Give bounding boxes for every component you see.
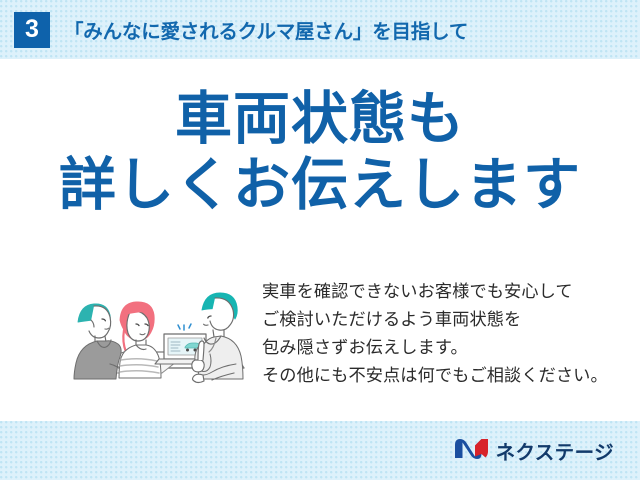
footer: ネクステージ bbox=[0, 421, 640, 480]
body-copy-line-3: 包み隠さずお伝えします。 bbox=[262, 334, 630, 362]
header-title: 「みんなに愛されるクルマ屋さん」を目指して bbox=[64, 15, 468, 44]
brand-wordmark: ネクステージ bbox=[496, 436, 614, 465]
header: 3 「みんなに愛されるクルマ屋さん」を目指して bbox=[0, 0, 640, 59]
consultation-illustration bbox=[58, 272, 254, 390]
body-copy-line-1: 実車を確認できないお客様でも安心して bbox=[262, 278, 630, 306]
page-title: 車両状態も 詳しくお伝えします bbox=[0, 86, 640, 218]
headline-line-1: 車両状態も bbox=[0, 86, 640, 152]
body-copy-line-4: その他にも不安点は何でもご相談ください。 bbox=[262, 362, 630, 390]
nextage-n-logo-icon bbox=[454, 436, 489, 466]
body-copy: 実車を確認できないお客様でも安心して ご検討いただけるよう車両状態を 包み隠さず… bbox=[262, 278, 630, 389]
content-row: 実車を確認できないお客様でも安心して ご検討いただけるよう車両状態を 包み隠さず… bbox=[0, 272, 640, 392]
step-number-badge: 3 bbox=[14, 12, 50, 48]
body-copy-line-2: ご検討いただけるよう車両状態を bbox=[262, 306, 630, 334]
promo-banner: 3 「みんなに愛されるクルマ屋さん」を目指して 車両状態も 詳しくお伝えします bbox=[0, 0, 640, 480]
headline-line-2: 詳しくお伝えします bbox=[0, 152, 640, 218]
